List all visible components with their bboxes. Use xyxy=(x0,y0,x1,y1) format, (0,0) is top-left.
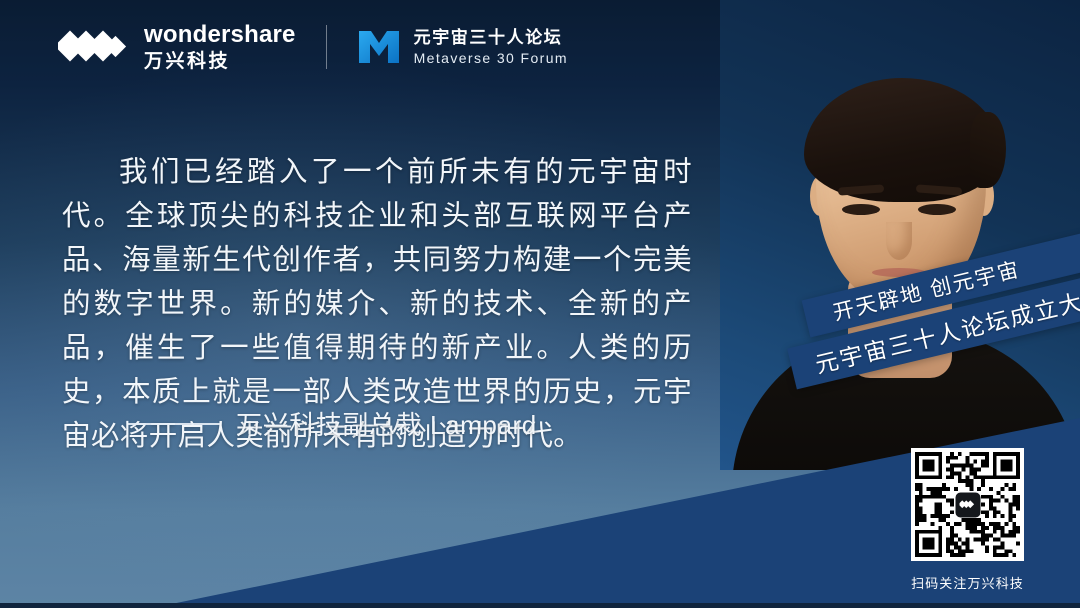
wondershare-logo[interactable]: wondershare 万兴科技 xyxy=(58,23,296,71)
poster-canvas: wondershare 万兴科技 元宇宙三十人论坛 Metaverse 30 F… xyxy=(0,0,1080,608)
wondershare-wordmark-cn: 万兴科技 xyxy=(144,52,296,71)
wondershare-w-mark xyxy=(960,500,976,509)
metaverse-m-mark xyxy=(357,27,401,67)
metaverse-forum-logo[interactable]: 元宇宙三十人论坛 Metaverse 30 Forum xyxy=(357,27,568,67)
quote-attribution: 万兴科技副总裁 Lampard xyxy=(128,405,537,442)
header-logos: wondershare 万兴科技 元宇宙三十人论坛 Metaverse 30 F… xyxy=(58,20,568,74)
wondershare-wordmark-en: wondershare xyxy=(144,23,296,47)
qr-block[interactable]: 扫码关注万兴科技 xyxy=(911,448,1024,592)
qr-caption: 扫码关注万兴科技 xyxy=(911,573,1024,592)
qr-code[interactable] xyxy=(911,448,1024,561)
logo-divider xyxy=(326,25,327,69)
speaker-portrait xyxy=(720,0,1080,470)
attribution-text: 万兴科技副总裁 Lampard xyxy=(236,405,537,442)
qr-center-logo xyxy=(955,492,980,517)
bottom-bar xyxy=(0,603,1080,608)
forum-name-en: Metaverse 30 Forum xyxy=(414,51,568,65)
forum-name-cn: 元宇宙三十人论坛 xyxy=(414,29,568,46)
wondershare-w-mark xyxy=(58,28,132,66)
attribution-rule xyxy=(128,423,220,425)
